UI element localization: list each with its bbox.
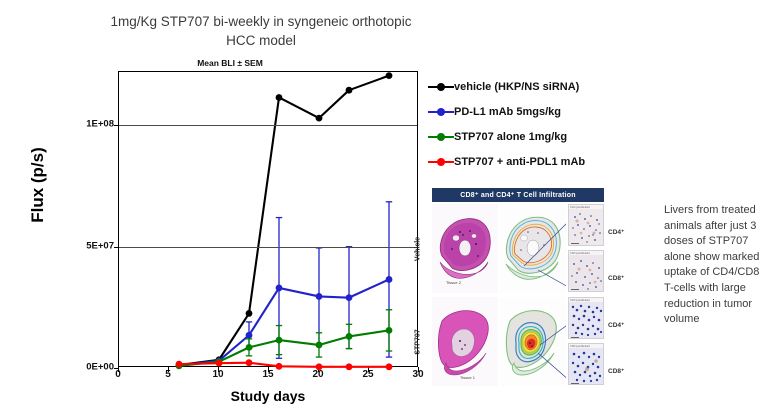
data-point — [386, 72, 393, 79]
series-vehicle (HKP/NS siRNA) — [176, 72, 393, 368]
cd4-label-stp707: CD4⁺ — [608, 321, 624, 329]
legend-label: STP707 alone 1mg/kg — [454, 131, 567, 143]
annotation-svg — [500, 204, 566, 293]
data-point — [386, 327, 393, 334]
data-point — [276, 363, 283, 370]
y-tick-mark — [114, 125, 119, 126]
chart-subtitle: Mean BLI ± SEM — [140, 58, 320, 68]
chart-plot-area — [118, 71, 418, 367]
data-point — [386, 363, 393, 370]
data-point — [316, 342, 323, 349]
data-point — [346, 294, 353, 301]
y-tick-mark — [114, 368, 119, 369]
micrograph-cd4-stp707: CD4 Quantification — [568, 297, 604, 339]
histology-row-label: STP707 — [415, 329, 422, 354]
series-line — [179, 279, 389, 365]
data-point — [316, 293, 323, 300]
cd4-label-vehicle: CD4⁺ — [608, 228, 624, 236]
micrograph-cd8-vehicle: CD8 Quantification — [568, 250, 604, 292]
micrograph-cd8-svg: CD8 Quantification — [569, 344, 604, 385]
cd8-label-stp707: CD8⁺ — [608, 367, 624, 375]
micrograph-cd8-stp707: CD8 Quantification — [568, 343, 604, 385]
data-point — [346, 363, 353, 370]
histology-row-label: Vehicle — [415, 236, 422, 260]
legend-item[interactable]: STP707 alone 1mg/kg — [428, 124, 663, 149]
histology-header: CD8⁺ and CD4⁺ T Cell Infiltration — [432, 188, 604, 202]
gridline — [119, 247, 417, 248]
histology-row-stp707: STP707 Tissue 1 — [432, 297, 604, 386]
data-point — [346, 333, 353, 340]
micrograph-cd4-svg: CD4 Quantification — [569, 298, 604, 339]
series-PD-L1 mAb 5mgs/kg — [176, 202, 393, 369]
slide-root: 1mg/Kg STP707 bi-weekly in syngeneic ort… — [0, 0, 767, 419]
tissue-caption-vehicle: Tissue 2 — [446, 280, 462, 285]
series-line — [179, 363, 389, 367]
histology-row-vehicle: Vehicle Tissue 2 — [432, 204, 604, 293]
data-point — [316, 115, 323, 122]
micrograph-stack-vehicle: CD4 Quantification — [568, 204, 604, 293]
data-point — [276, 94, 283, 101]
he-stain-svg: Tissue 2 — [432, 204, 498, 293]
x-axis-title: Study days — [168, 388, 368, 404]
x-axis-ticks — [118, 367, 418, 375]
micrograph-cd8-svg: CD8 Quantification — [569, 251, 604, 292]
legend-label: STP707 + anti-PDL1 mAb — [454, 156, 585, 168]
series-layer — [119, 72, 419, 368]
data-point — [246, 310, 253, 317]
y-axis-tick-labels: 0E+005E+071E+08 — [58, 71, 114, 367]
svg-text:CD8 Quantification: CD8 Quantification — [570, 345, 591, 348]
data-point — [346, 87, 353, 94]
micrograph-stack-stp707: CD4 Quantification — [568, 297, 604, 386]
y-axis-title: Flux (p/s) — [28, 125, 48, 245]
series-line — [179, 76, 389, 365]
micrograph-cd4-vehicle: CD4 Quantification — [568, 204, 604, 246]
data-point — [386, 276, 393, 283]
micrograph-cd4-svg: CD4 Quantification — [569, 205, 604, 246]
slide-title: 1mg/Kg STP707 bi-weekly in syngeneic ort… — [96, 12, 426, 50]
cd8-label-vehicle: CD8⁺ — [608, 274, 624, 282]
gridline — [119, 125, 417, 126]
tissue-caption-stp707: Tissue 1 — [460, 375, 476, 380]
legend-marker-icon — [428, 156, 454, 168]
histology-panel: CD8⁺ and CD4⁺ T Cell Infiltration Vehicl… — [432, 188, 604, 388]
he-stain-svg: Tissue 1 — [432, 297, 498, 386]
y-tick-label: 1E+08 — [86, 119, 114, 130]
chart-legend: vehicle (HKP/NS siRNA)PD-L1 mAb 5mgs/kgS… — [428, 74, 663, 174]
narrative-text: Livers from treated animals after just 3… — [664, 203, 767, 328]
annotated-overlay-vehicle — [500, 204, 566, 293]
he-stain-image-vehicle: Tissue 2 — [432, 204, 498, 293]
data-point — [276, 285, 283, 292]
y-tick-label: 5E+07 — [86, 240, 114, 251]
legend-label: vehicle (HKP/NS siRNA) — [454, 81, 579, 93]
legend-item[interactable]: STP707 + anti-PDL1 mAb — [428, 149, 663, 174]
y-tick-mark — [114, 247, 119, 248]
svg-text:CD4 Quantification: CD4 Quantification — [570, 299, 591, 302]
legend-marker-icon — [428, 81, 454, 93]
annotation-svg — [500, 297, 566, 386]
data-point — [316, 363, 323, 370]
data-point — [246, 359, 253, 366]
data-point — [246, 332, 253, 339]
annotated-overlay-stp707 — [500, 297, 566, 386]
y-tick-label: 0E+00 — [86, 362, 114, 373]
legend-item[interactable]: PD-L1 mAb 5mgs/kg — [428, 99, 663, 124]
histology-body: Vehicle Tissue 2 — [432, 204, 604, 388]
data-point — [276, 337, 283, 344]
data-point — [216, 360, 223, 367]
legend-label: PD-L1 mAb 5mgs/kg — [454, 106, 561, 118]
he-stain-image-stp707: Tissue 1 — [432, 297, 498, 386]
legend-marker-icon — [428, 106, 454, 118]
legend-item[interactable]: vehicle (HKP/NS siRNA) — [428, 74, 663, 99]
legend-marker-icon — [428, 131, 454, 143]
data-point — [176, 361, 183, 368]
svg-text:CD8 Quantification: CD8 Quantification — [570, 252, 591, 255]
svg-text:CD4 Quantification: CD4 Quantification — [570, 206, 591, 209]
data-point — [246, 344, 253, 351]
